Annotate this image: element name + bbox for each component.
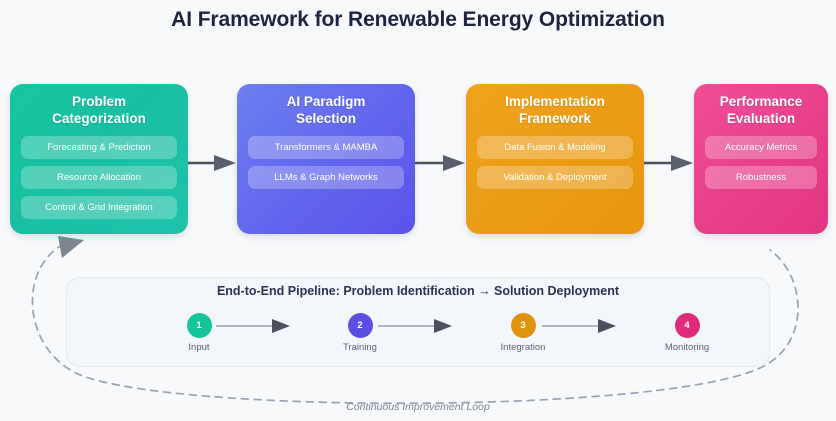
stage-card-title: Problem Categorization xyxy=(52,94,146,127)
page-title: AI Framework for Renewable Energy Optimi… xyxy=(0,8,836,32)
stage-title-line2: Framework xyxy=(519,111,591,126)
stage-item-pill[interactable]: Resource Allocation xyxy=(21,166,177,189)
stage-item-pill[interactable]: Transformers & MAMBA xyxy=(248,136,404,159)
loop-caption: Continuous Improvement Loop xyxy=(0,401,836,413)
stage-title-line1: AI Paradigm xyxy=(287,94,366,109)
stage-item-pill[interactable]: Robustness xyxy=(705,166,817,189)
diagram-canvas: AI Framework for Renewable Energy Optimi… xyxy=(0,0,836,421)
stage-item-pill[interactable]: LLMs & Graph Networks xyxy=(248,166,404,189)
pipeline-step-monitoring[interactable]: 4 Monitoring xyxy=(652,313,722,353)
stage-card-implementation-framework[interactable]: Implementation Framework Data Fusion & M… xyxy=(466,84,644,234)
stage-card-ai-paradigm-selection[interactable]: AI Paradigm Selection Transformers & MAM… xyxy=(237,84,415,234)
pipeline-step-label: Training xyxy=(325,342,395,353)
stage-item-pill[interactable]: Accuracy Metrics xyxy=(705,136,817,159)
stage-title-line2: Categorization xyxy=(52,111,146,126)
pipeline-step-number: 2 xyxy=(348,313,373,338)
stage-item-pill[interactable]: Validation & Deployment xyxy=(477,166,633,189)
stage-item-pill[interactable]: Forecasting & Prediction xyxy=(21,136,177,159)
pipeline-step-number: 4 xyxy=(675,313,700,338)
pipeline-title: End-to-End Pipeline: Problem Identificat… xyxy=(66,284,770,298)
stage-title-line1: Implementation xyxy=(505,94,605,109)
pipeline-step-label: Monitoring xyxy=(652,342,722,353)
stage-connector-arrow-icon xyxy=(188,152,237,174)
stage-card-title: Performance Evaluation xyxy=(720,94,803,127)
pipeline-step-number: 3 xyxy=(511,313,536,338)
stage-item-pill[interactable]: Data Fusion & Modeling xyxy=(477,136,633,159)
pipeline-steps: 1 Input 2 Training 3 Integration 4 Monit… xyxy=(66,313,770,361)
stage-card-performance-evaluation[interactable]: Performance Evaluation Accuracy Metrics … xyxy=(694,84,828,234)
stage-title-line2: Selection xyxy=(296,111,356,126)
stage-card-problem-categorization[interactable]: Problem Categorization Forecasting & Pre… xyxy=(10,84,188,234)
pipeline-step-integration[interactable]: 3 Integration xyxy=(488,313,558,353)
stage-title-line2: Evaluation xyxy=(727,111,795,126)
stage-title-line1: Problem xyxy=(72,94,126,109)
pipeline-step-label: Integration xyxy=(488,342,558,353)
pipeline-step-number: 1 xyxy=(187,313,212,338)
stage-card-title: Implementation Framework xyxy=(505,94,605,127)
pipeline-step-input[interactable]: 1 Input xyxy=(164,313,234,353)
pipeline-step-label: Input xyxy=(164,342,234,353)
stage-card-title: AI Paradigm Selection xyxy=(287,94,366,127)
stage-title-line1: Performance xyxy=(720,94,803,109)
stage-item-pill[interactable]: Control & Grid Integration xyxy=(21,196,177,219)
stage-connector-arrow-icon xyxy=(415,152,466,174)
pipeline-step-training[interactable]: 2 Training xyxy=(325,313,395,353)
stage-connector-arrow-icon xyxy=(644,152,694,174)
